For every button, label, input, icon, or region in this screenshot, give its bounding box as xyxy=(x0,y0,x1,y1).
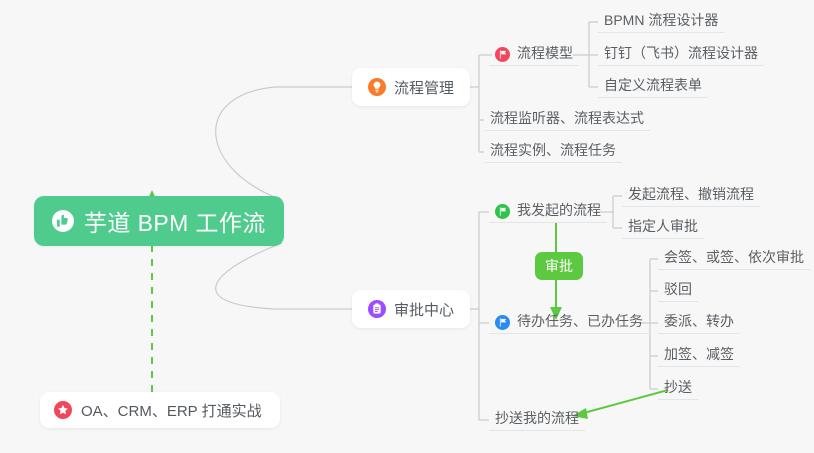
mindmap-canvas: 芋道 BPM 工作流 流程管理 流程模型 BPMN 流程设计器 钉钉（飞书）流程… xyxy=(0,0,814,453)
leaf-node-listener-expression[interactable]: 流程监听器、流程表达式 xyxy=(484,107,650,131)
leaf-node-delegate-transfer[interactable]: 委派、转办 xyxy=(658,310,740,334)
flag-icon xyxy=(495,204,510,219)
floating-node-label: OA、CRM、ERP 打通实战 xyxy=(81,400,262,421)
leaf-label: 流程模型 xyxy=(517,44,573,62)
leaf-label: 流程实例、流程任务 xyxy=(490,141,616,159)
leaf-label: 抄送 xyxy=(664,378,692,396)
thumbs-up-icon xyxy=(52,210,74,232)
leaf-label: 委派、转办 xyxy=(664,312,734,330)
leaf-node-assignee-approval[interactable]: 指定人审批 xyxy=(622,215,704,239)
leaf-node-process-model[interactable]: 流程模型 xyxy=(489,42,579,66)
leaf-node-start-cancel-process[interactable]: 发起流程、撤销流程 xyxy=(622,183,760,207)
lightbulb-icon xyxy=(368,78,386,96)
branch-label: 审批中心 xyxy=(394,299,454,320)
leaf-label: 我发起的流程 xyxy=(517,201,601,219)
leaf-label: 指定人审批 xyxy=(628,217,698,235)
leaf-label: 加签、减签 xyxy=(664,345,734,363)
relation-badge-label: 审批 xyxy=(545,256,573,276)
branch-node-process-management[interactable]: 流程管理 xyxy=(352,68,470,106)
root-node[interactable]: 芋道 BPM 工作流 xyxy=(34,196,284,246)
leaf-label: BPMN 流程设计器 xyxy=(604,11,718,29)
leaf-label: 抄送我的流程 xyxy=(495,409,579,427)
leaf-node-cc[interactable]: 抄送 xyxy=(658,376,698,400)
star-icon xyxy=(54,401,72,419)
clipboard-icon xyxy=(368,300,386,318)
leaf-node-reject[interactable]: 驳回 xyxy=(658,278,698,302)
root-label: 芋道 BPM 工作流 xyxy=(84,204,266,238)
leaf-label: 驳回 xyxy=(664,280,692,298)
leaf-label: 流程监听器、流程表达式 xyxy=(490,109,644,127)
leaf-node-todo-done-tasks[interactable]: 待办任务、已办任务 xyxy=(489,310,649,334)
leaf-node-dingtalk-feishu-designer[interactable]: 钉钉（飞书）流程设计器 xyxy=(598,42,764,66)
leaf-node-add-remove-sign[interactable]: 加签、减签 xyxy=(658,343,740,367)
floating-node-oa-crm-erp[interactable]: OA、CRM、ERP 打通实战 xyxy=(40,392,280,428)
leaf-node-instance-task[interactable]: 流程实例、流程任务 xyxy=(484,139,622,163)
leaf-node-bpmn-designer[interactable]: BPMN 流程设计器 xyxy=(598,9,724,33)
leaf-node-countersign[interactable]: 会签、或签、依次审批 xyxy=(658,246,810,270)
leaf-node-custom-process-form[interactable]: 自定义流程表单 xyxy=(598,74,708,98)
branch-node-approval-center[interactable]: 审批中心 xyxy=(352,290,470,328)
leaf-label: 待办任务、已办任务 xyxy=(517,312,643,330)
leaf-node-cc-my-processes[interactable]: 抄送我的流程 xyxy=(489,407,585,431)
leaf-label: 钉钉（飞书）流程设计器 xyxy=(604,44,758,62)
leaf-label: 发起流程、撤销流程 xyxy=(628,185,754,203)
branch-label: 流程管理 xyxy=(394,77,454,98)
relation-badge-approval[interactable]: 审批 xyxy=(535,252,583,280)
leaf-label: 自定义流程表单 xyxy=(604,76,702,94)
leaf-label: 会签、或签、依次审批 xyxy=(664,248,804,266)
flag-icon xyxy=(495,47,510,62)
leaf-node-my-started-processes[interactable]: 我发起的流程 xyxy=(489,199,607,223)
flag-icon xyxy=(495,315,510,330)
